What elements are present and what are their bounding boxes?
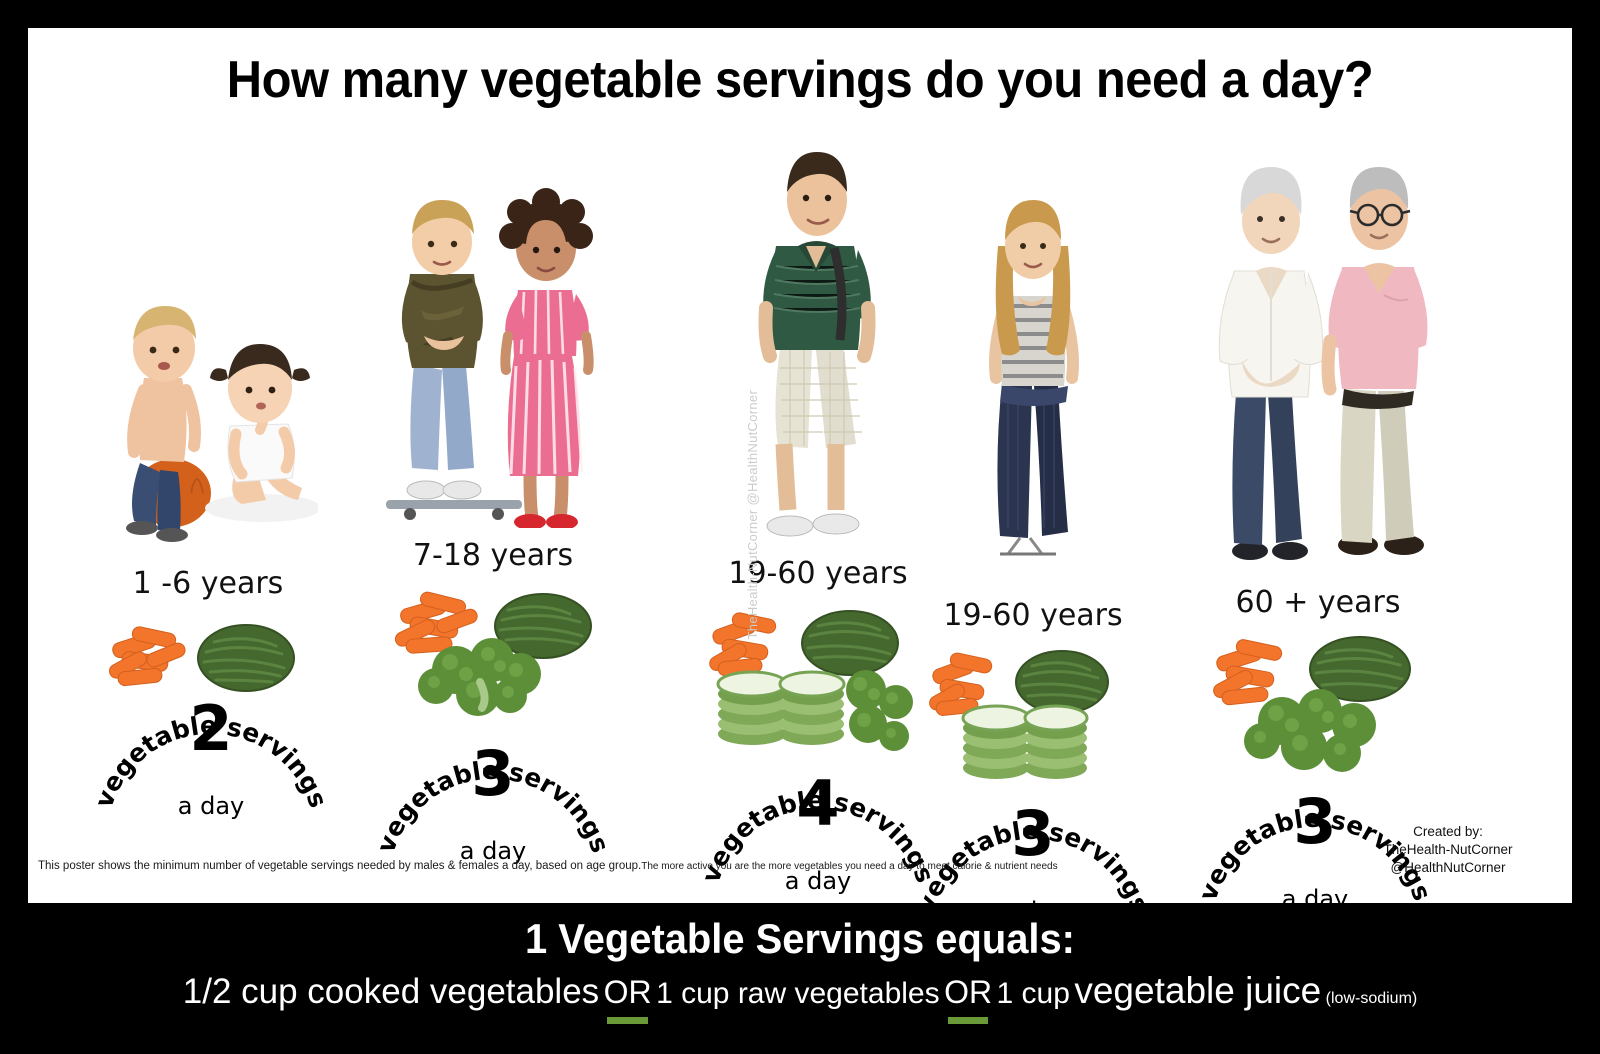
age-label-toddlers: 1 -6 years (88, 566, 328, 601)
age-group-seniors: 60 + years (1168, 153, 1468, 893)
broccoli-icon (846, 670, 913, 751)
leafy-greens-icon (802, 611, 898, 675)
green-underline-1 (607, 1017, 647, 1024)
serving-option-raw: 1 cup raw vegetables (656, 977, 940, 1010)
carrots-icon (708, 612, 777, 677)
figure-photo-adult-female (938, 188, 1128, 568)
low-sodium-note: (low-sodium) (1326, 990, 1418, 1007)
servings-arc-toddlers: vegetable servings 2 a day (96, 688, 326, 818)
page-title: How many vegetable servings do you need … (74, 50, 1525, 110)
figure-photo-toddlers (98, 248, 318, 548)
equals-detail-line: 1/2 cup cooked vegetables OR 1 cup raw v… (0, 970, 1600, 1012)
leafy-greens-icon (198, 625, 294, 691)
credit-name: TheHealth-NutCorner (1338, 841, 1558, 859)
credit-block: Created by: TheHealth-NutCorner @HealthN… (1338, 823, 1558, 878)
carrots-icon (393, 591, 479, 654)
age-group-children-teens: 7-18 years (368, 178, 618, 878)
age-group-adult-male: 19-60 years (698, 138, 938, 898)
serving-option-cooked: 1/2 cup cooked vegetables (183, 972, 599, 1011)
age-group-toddlers: 1 -6 years (88, 248, 328, 888)
carrots-icon (107, 626, 187, 687)
or-separator-1: OR (604, 974, 652, 1010)
children-illustration (378, 178, 608, 528)
servings-number-children-teens: 3 (471, 737, 514, 810)
footnote-sub: The more active you are the more vegetab… (641, 861, 1057, 872)
age-label-adult-male: 19-60 years (698, 556, 938, 591)
footer-band: 1 Vegetable Servings equals: 1/2 cup coo… (0, 903, 1600, 1054)
veg-plate-adult-female (928, 638, 1128, 788)
age-label-adult-female: 19-60 years (918, 598, 1148, 633)
serving-option-juice: vegetable juice (1074, 970, 1321, 1011)
veg-plate-children-teens (388, 578, 603, 728)
per-day-toddlers: a day (178, 792, 244, 820)
seniors-illustration (1178, 153, 1458, 568)
cucumber-slices-icon (718, 672, 844, 745)
veg-plate-seniors (1210, 625, 1430, 785)
equals-headline: 1 Vegetable Servings equals: (40, 915, 1560, 963)
poster-card: How many vegetable servings do you need … (28, 28, 1572, 903)
carrots-icon (1211, 638, 1283, 705)
veg-plate-adult-male (708, 598, 928, 758)
age-group-adult-female: 19-60 years (918, 188, 1148, 903)
green-underline-2 (948, 1017, 988, 1024)
teen-girl-illustration (938, 188, 1128, 568)
servings-number-seniors: 3 (1293, 785, 1336, 858)
watermark-line-2: @HealthNutCorner (745, 390, 760, 506)
servings-number-toddlers: 2 (189, 692, 232, 765)
age-label-seniors: 60 + years (1168, 585, 1468, 620)
credit-handle: @HealthNutCorner (1338, 859, 1558, 877)
veg-plate-toddlers (106, 608, 306, 698)
leafy-greens-icon (1016, 651, 1108, 713)
servings-arc-children-teens: vegetable servings 3 a day (378, 733, 608, 863)
serving-option-juice-qty: 1 cup (997, 977, 1070, 1010)
cucumber-slices-icon (963, 706, 1087, 779)
footnote-main: This poster shows the minimum number of … (38, 860, 641, 872)
figure-photo-seniors (1178, 153, 1458, 568)
figure-photo-children-teens (378, 178, 608, 528)
or-separator-2: OR (944, 974, 992, 1010)
servings-arc-adult-female: vegetable servings 3 a day (918, 793, 1148, 903)
credit-label: Created by: (1338, 823, 1558, 841)
watermark-line-1: TheHealth-NutCorner (745, 509, 760, 639)
footnote: This poster shows the minimum number of … (38, 856, 1138, 874)
per-day-seniors: a day (1282, 885, 1348, 903)
toddlers-illustration (98, 248, 318, 548)
servings-number-adult-male: 4 (796, 767, 839, 840)
age-label-children-teens: 7-18 years (368, 538, 618, 573)
watermark: TheHealth-NutCorner @HealthNutCorner (744, 390, 762, 639)
